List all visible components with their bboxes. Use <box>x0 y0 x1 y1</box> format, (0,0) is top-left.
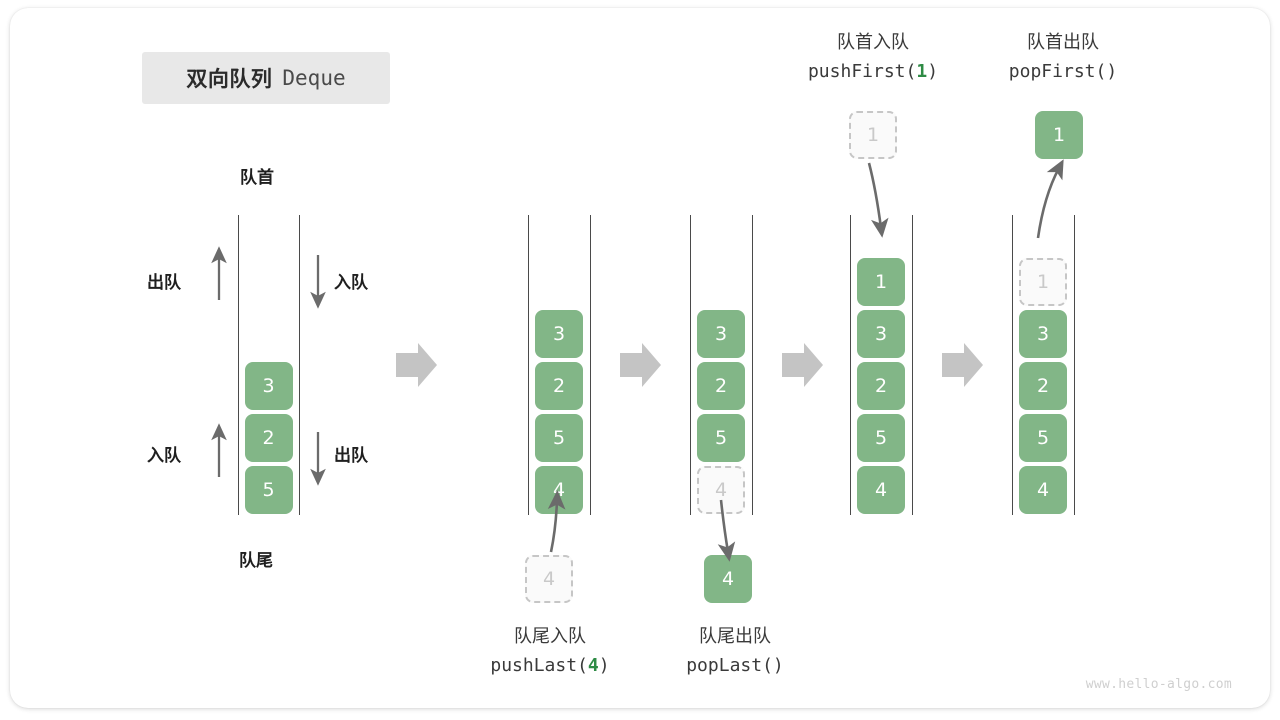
caption-push-first-code: pushFirst(1) <box>763 61 983 82</box>
deque-element: 5 <box>857 414 905 462</box>
deque-rail-right <box>912 215 913 515</box>
caption-push-first: 队首入队 pushFirst(1) <box>763 28 983 82</box>
deque-element: 2 <box>535 362 583 410</box>
caption-pop-last-cn: 队尾出队 <box>625 622 845 648</box>
floating-result-pop-first: 1 <box>1035 111 1083 159</box>
deque-element: 4 <box>857 466 905 514</box>
label-rear-dequeue: 出队 <box>334 441 368 466</box>
deque-element: 2 <box>857 362 905 410</box>
deque-element: 3 <box>245 362 293 410</box>
deque-element: 3 <box>857 310 905 358</box>
push-last-arg: 4 <box>588 655 599 676</box>
deque-rail-left <box>850 215 851 515</box>
watermark: www.hello-algo.com <box>1086 677 1232 692</box>
pop-last-fn-post: ) <box>773 655 784 676</box>
pop-first-fn-pre: popFirst( <box>1009 61 1107 82</box>
deque-element-ghost: 1 <box>1019 258 1067 306</box>
deque-element: 4 <box>1019 466 1067 514</box>
deque-element: 5 <box>535 414 583 462</box>
push-first-fn-post: ) <box>927 61 938 82</box>
floating-result-pop-last: 4 <box>704 555 752 603</box>
deque-element: 3 <box>697 310 745 358</box>
deque-rail-left <box>528 215 529 515</box>
deque-element: 3 <box>1019 310 1067 358</box>
caption-pop-last: 队尾出队 popLast() <box>625 622 845 676</box>
deque-element: 5 <box>697 414 745 462</box>
label-front-enqueue: 入队 <box>334 268 368 293</box>
floating-ghost-push-first: 1 <box>849 111 897 159</box>
deque-element: 2 <box>697 362 745 410</box>
label-rear-enqueue: 入队 <box>147 441 181 466</box>
push-first-fn-pre: pushFirst( <box>808 61 916 82</box>
deque-element: 3 <box>535 310 583 358</box>
title-chinese: 双向队列 <box>186 63 272 93</box>
pop-first-fn-post: ) <box>1106 61 1117 82</box>
label-front: 队首 <box>240 163 274 188</box>
deque-element: 4 <box>535 466 583 514</box>
deque-rail-right <box>1074 215 1075 515</box>
deque-element: 5 <box>245 466 293 514</box>
caption-pop-last-code: popLast() <box>625 655 845 676</box>
deque-rail-right <box>590 215 591 515</box>
caption-push-first-cn: 队首入队 <box>763 28 983 54</box>
diagram-canvas: 双向队列 Deque 队首 队尾 出队 入队 入队 出队 队首入队 pushFi… <box>0 0 1280 720</box>
deque-element: 2 <box>245 414 293 462</box>
caption-pop-first-cn: 队首出队 <box>953 28 1173 54</box>
deque-rail-left <box>238 215 239 515</box>
floating-ghost-push-last: 4 <box>525 555 573 603</box>
push-last-fn-pre: pushLast( <box>490 655 588 676</box>
deque-rail-left <box>1012 215 1013 515</box>
push-first-arg: 1 <box>916 61 927 82</box>
push-last-fn-post: ) <box>599 655 610 676</box>
deque-element: 1 <box>857 258 905 306</box>
caption-pop-first: 队首出队 popFirst() <box>953 28 1173 82</box>
deque-rail-left <box>690 215 691 515</box>
deque-element: 5 <box>1019 414 1067 462</box>
caption-pop-first-code: popFirst() <box>953 61 1173 82</box>
deque-rail-right <box>299 215 300 515</box>
label-rear: 队尾 <box>239 546 273 571</box>
deque-element-ghost: 4 <box>697 466 745 514</box>
pop-last-fn-pre: popLast( <box>686 655 773 676</box>
deque-rail-right <box>752 215 753 515</box>
label-front-dequeue: 出队 <box>147 268 181 293</box>
title-english: Deque <box>282 66 345 90</box>
title-badge: 双向队列 Deque <box>142 52 390 104</box>
deque-element: 2 <box>1019 362 1067 410</box>
